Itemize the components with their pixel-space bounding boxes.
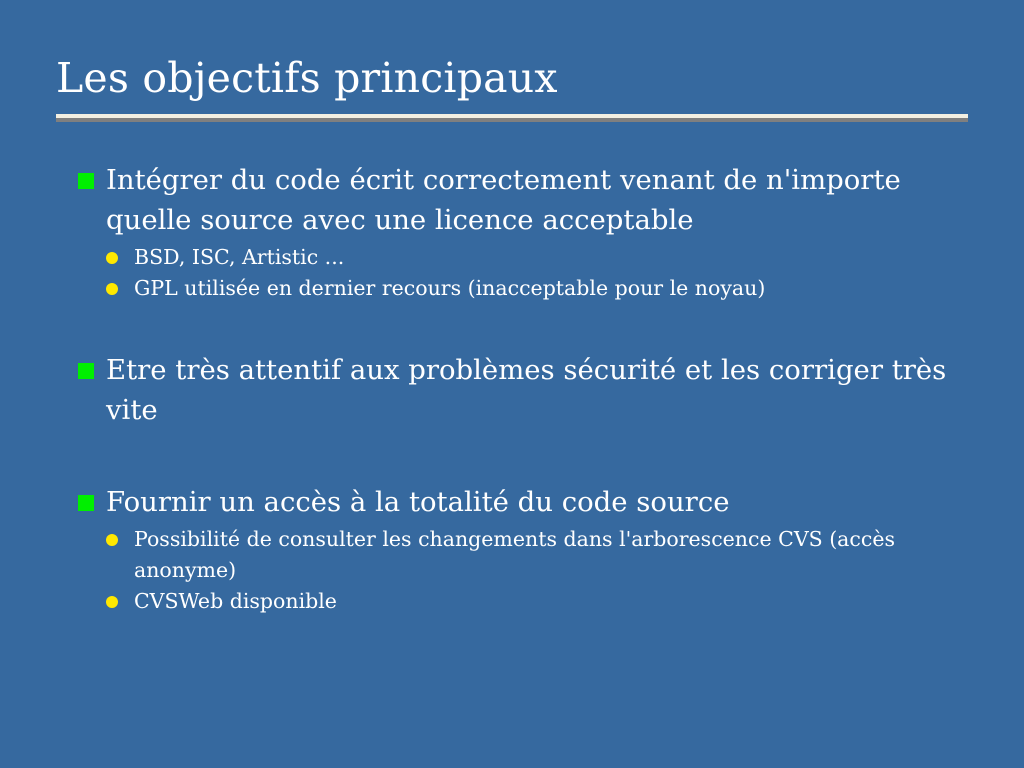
bullet-level2-text: BSD, ISC, Artistic ...: [134, 245, 344, 269]
bullet-level2-text: GPL utilisée en dernier recours (inaccep…: [134, 276, 765, 300]
page-title: Les objectifs principaux: [56, 52, 968, 104]
title-rule-dark: [56, 118, 968, 122]
bullet-level1: Intégrer du code écrit correctement vena…: [56, 160, 976, 240]
bullet-level2: BSD, ISC, Artistic ...: [56, 242, 976, 273]
bullet-level2: GPL utilisée en dernier recours (inaccep…: [56, 273, 976, 304]
yellow-dot-bullet-icon: [106, 596, 118, 608]
green-square-bullet-icon: [78, 495, 94, 511]
green-square-bullet-icon: [78, 363, 94, 379]
bullet-level1: Fournir un accès à la totalité du code s…: [56, 482, 976, 522]
bullet-level1-text: Etre très attentif aux problèmes sécurit…: [106, 354, 946, 426]
bullet-level2: Possibilité de consulter les changements…: [56, 524, 976, 586]
yellow-dot-bullet-icon: [106, 534, 118, 546]
bullet-level1-text: Fournir un accès à la totalité du code s…: [106, 486, 730, 518]
bullet-group: Intégrer du code écrit correctement vena…: [56, 160, 976, 304]
yellow-dot-bullet-icon: [106, 283, 118, 295]
sub-bullet-list: BSD, ISC, Artistic ... GPL utilisée en d…: [56, 242, 976, 304]
bullet-level2: CVSWeb disponible: [56, 586, 976, 617]
title-block: Les objectifs principaux: [56, 52, 968, 122]
green-square-bullet-icon: [78, 173, 94, 189]
slide-body: Intégrer du code écrit correctement vena…: [56, 160, 976, 617]
bullet-group: Etre très attentif aux problèmes sécurit…: [56, 350, 976, 430]
presentation-slide: Les objectifs principaux Intégrer du cod…: [0, 0, 1024, 768]
group-spacer: [56, 304, 976, 350]
title-underline-rule: [56, 114, 968, 122]
yellow-dot-bullet-icon: [106, 252, 118, 264]
bullet-group: Fournir un accès à la totalité du code s…: [56, 482, 976, 617]
bullet-level2-text: Possibilité de consulter les changements…: [134, 527, 895, 582]
group-spacer: [56, 430, 976, 482]
sub-bullet-list: Possibilité de consulter les changements…: [56, 524, 976, 617]
bullet-level1: Etre très attentif aux problèmes sécurit…: [56, 350, 976, 430]
bullet-level2-text: CVSWeb disponible: [134, 589, 337, 613]
bullet-level1-text: Intégrer du code écrit correctement vena…: [106, 164, 901, 236]
